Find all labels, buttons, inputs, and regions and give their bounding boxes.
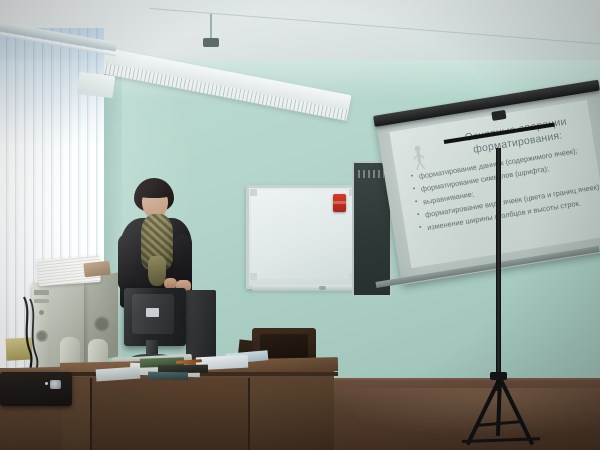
wall-vent [77, 72, 115, 98]
presenter-arm-right [174, 234, 192, 286]
whiteboard-eraser[interactable] [333, 194, 346, 212]
ceiling-light-fixture [86, 14, 356, 94]
tripod-hub [490, 372, 507, 380]
desk-panel-seam [248, 378, 250, 450]
light-mount-bracket [203, 38, 219, 47]
classroom-photo: Основные операции форматирования: формат… [0, 0, 600, 450]
light-suspension-rod [210, 14, 212, 40]
presenter-hair-fringe [136, 182, 172, 198]
whiteboard-marker-tray [252, 285, 354, 291]
video-projector[interactable] [0, 372, 72, 406]
presenter-arm-left [118, 234, 136, 290]
tripod-center-pole [496, 148, 501, 391]
eraser-band [333, 201, 346, 204]
tray-knob [319, 286, 326, 290]
whiteboard-corner [250, 273, 257, 280]
whiteboard[interactable] [246, 185, 360, 289]
monitor-label-sticker [146, 308, 159, 317]
projected-slide: Основные операции форматирования: формат… [389, 100, 600, 268]
projection-screen-assembly: Основные операции форматирования: формат… [372, 86, 600, 301]
desk-front-panel [90, 378, 250, 450]
projector-status-led-icon [45, 382, 48, 385]
cable-bundle [20, 295, 50, 375]
presenter [112, 178, 204, 306]
secondary-tower [186, 290, 216, 360]
floor-light-reflection [330, 388, 600, 438]
whiteboard-corner [250, 189, 257, 196]
desk-book[interactable] [148, 372, 188, 381]
desk-panel-seam [90, 378, 92, 450]
projector-lens-icon [50, 380, 61, 389]
brown-folder [83, 261, 110, 278]
tower-side-fan-vent-icon [94, 316, 110, 332]
